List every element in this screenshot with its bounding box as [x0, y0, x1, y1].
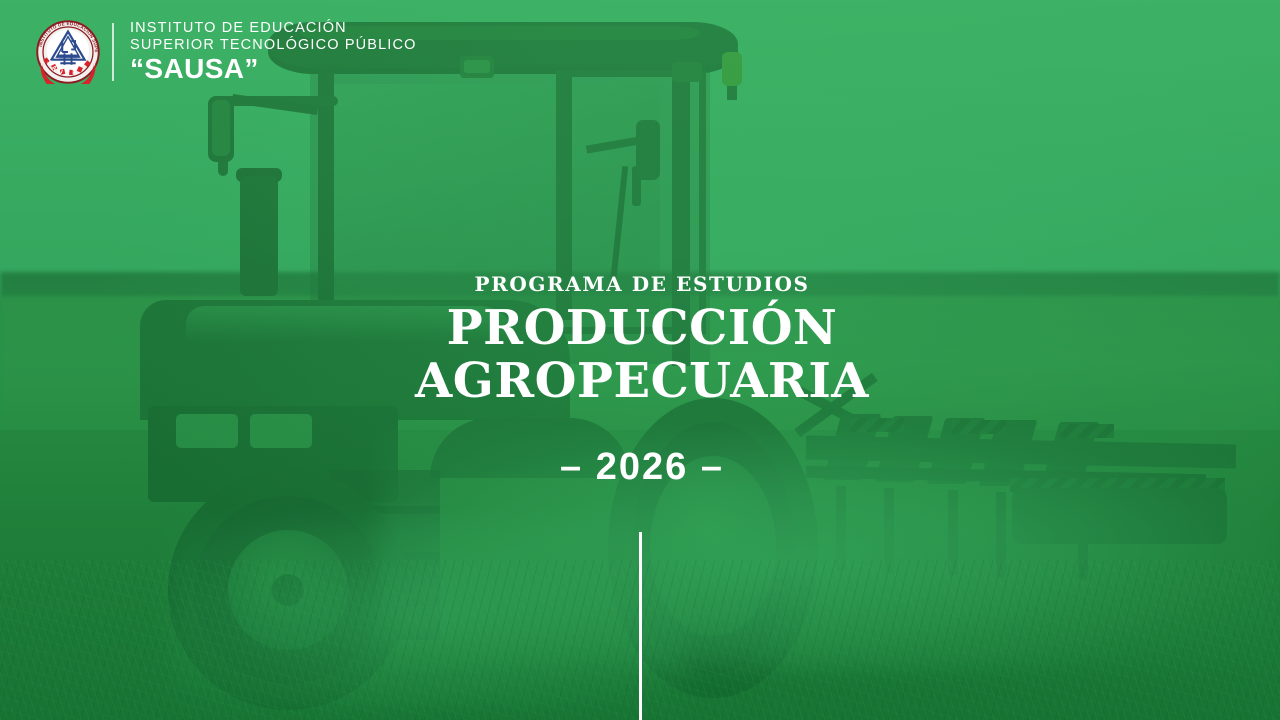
sausa-logo: INSTITUTO DE EDUCACION SUPERIOR TECNOLOG…: [36, 20, 100, 84]
institution-acronym: “SAUSA”: [130, 54, 417, 84]
header-divider: [112, 23, 114, 81]
institution-name-block: INSTITUTO DE EDUCACIÓN SUPERIOR TECNOLÓG…: [130, 20, 417, 84]
program-kicker: PROGRAMA DE ESTUDIOS: [0, 272, 1280, 296]
program-year: – 2026 –: [0, 446, 1280, 489]
vertical-accent-line: [639, 532, 642, 720]
institution-line-2: SUPERIOR TECNOLÓGICO PÚBLICO: [130, 37, 417, 54]
title-block: PROGRAMA DE ESTUDIOS PRODUCCIÓN AGROPECU…: [0, 272, 1280, 408]
title-slide: INSTITUTO DE EDUCACION SUPERIOR TECNOLOG…: [0, 0, 1280, 720]
institution-header: INSTITUTO DE EDUCACION SUPERIOR TECNOLOG…: [36, 20, 417, 84]
institution-line-1: INSTITUTO DE EDUCACIÓN: [130, 20, 417, 37]
program-title-line-2: AGROPECUARIA: [0, 355, 1280, 408]
program-title-line-1: PRODUCCIÓN: [0, 302, 1280, 355]
